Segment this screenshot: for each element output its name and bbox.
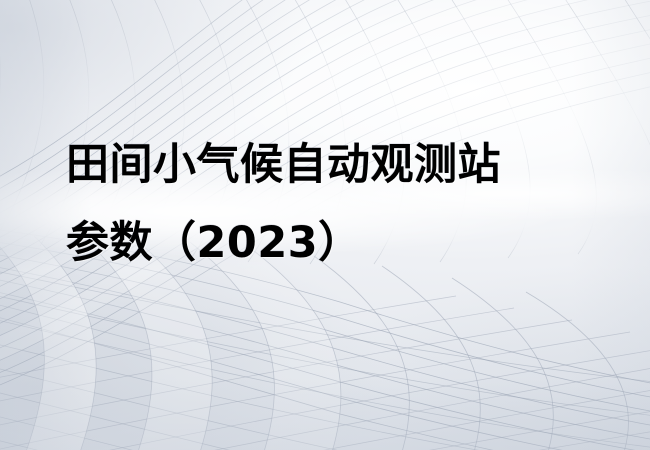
title-slide: 田间小气候自动观测站 参数（2023） bbox=[0, 0, 650, 450]
title-line-2: 参数（2023） bbox=[66, 204, 626, 282]
title-line-1: 田间小气候自动观测站 bbox=[66, 126, 626, 204]
page-title: 田间小气候自动观测站 参数（2023） bbox=[66, 126, 626, 282]
